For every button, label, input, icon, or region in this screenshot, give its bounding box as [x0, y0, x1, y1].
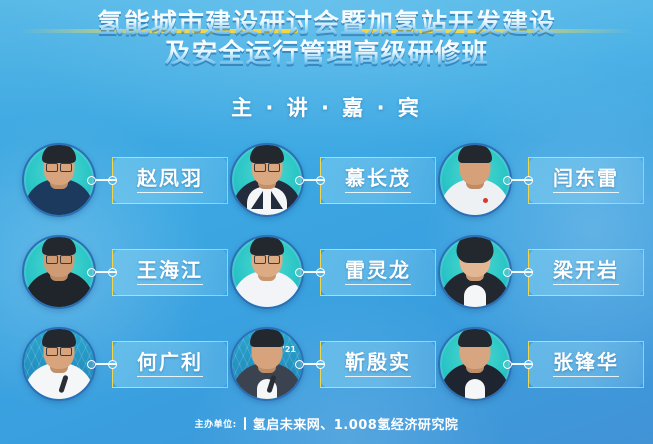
speaker-name-pill[interactable]: 雷灵龙 [320, 249, 436, 296]
connector-line [295, 173, 325, 187]
speaker-card[interactable]: '21 靳殷实 [230, 318, 436, 410]
speaker-card[interactable]: 雷灵龙 [230, 226, 436, 318]
speaker-card[interactable]: 王海江 [22, 226, 228, 318]
speaker-name: 梁开岩 [553, 259, 619, 285]
connector-line [503, 265, 533, 279]
footer-organizers: 氢启未来网、1.008氢经济研究院 [253, 414, 459, 433]
speaker-card[interactable]: 张锋华 [438, 318, 644, 410]
connector-line [295, 265, 325, 279]
poster-root: 氢能城市建设研讨会暨加氢站开发建设 及安全运行管理高级研修班 主 · 讲 · 嘉… [0, 0, 653, 444]
speaker-name-pill[interactable]: 慕长茂 [320, 157, 436, 204]
title-line-2-row: 及安全运行管理高级研修班 [0, 39, 653, 69]
speaker-name-pill[interactable]: 梁开岩 [528, 249, 644, 296]
portrait-avatar-icon [22, 235, 96, 309]
portrait-avatar-icon [438, 235, 512, 309]
speaker-card[interactable]: 何广利 [22, 318, 228, 410]
speaker-name: 王海江 [137, 259, 203, 285]
stage-badge-number: '21 [282, 345, 296, 354]
speaker-name: 靳殷实 [345, 351, 411, 377]
connector-line [503, 173, 533, 187]
connector-dot-icon [295, 268, 304, 277]
connector-dot-icon [87, 176, 96, 185]
connector-dot-icon [295, 360, 304, 369]
connector-dot-icon [295, 176, 304, 185]
connector-dot-icon [503, 360, 512, 369]
footer: 主办单位: 氢启未来网、1.008氢经济研究院 [0, 414, 653, 433]
speaker-name-pill[interactable]: 何广利 [112, 341, 228, 388]
portrait-avatar-icon [22, 327, 96, 401]
speaker-name-pill[interactable]: 王海江 [112, 249, 228, 296]
portrait-avatar-icon: '21 [230, 327, 304, 401]
connector-dot-icon [87, 360, 96, 369]
speaker-name-pill[interactable]: 张锋华 [528, 341, 644, 388]
footer-label: 主办单位: [195, 417, 237, 430]
portrait-avatar-icon [230, 235, 304, 309]
portrait-avatar-icon [22, 143, 96, 217]
connector-dot-icon [503, 268, 512, 277]
connector-dot-icon [503, 176, 512, 185]
footer-divider [244, 417, 246, 430]
speaker-name: 何广利 [137, 351, 203, 377]
speaker-name: 雷灵龙 [345, 259, 411, 285]
title-line-1: 氢能城市建设研讨会暨加氢站开发建设 [97, 9, 556, 39]
speaker-card[interactable]: 闫东雷 [438, 134, 644, 226]
connector-line [87, 265, 117, 279]
poster-title: 氢能城市建设研讨会暨加氢站开发建设 及安全运行管理高级研修班 [0, 9, 653, 69]
speaker-card[interactable]: 慕长茂 [230, 134, 436, 226]
speaker-name-pill[interactable]: 赵凤羽 [112, 157, 228, 204]
speaker-name-pill[interactable]: 靳殷实 [320, 341, 436, 388]
connector-line [87, 173, 117, 187]
title-line-2: 及安全运行管理高级研修班 [164, 39, 488, 69]
connector-line [295, 357, 325, 371]
connector-dot-icon [87, 268, 96, 277]
connector-line [503, 357, 533, 371]
speaker-name: 闫东雷 [553, 167, 619, 193]
speaker-name: 赵凤羽 [137, 167, 203, 193]
portrait-avatar-icon [230, 143, 304, 217]
speaker-name: 慕长茂 [345, 167, 411, 193]
portrait-avatar-icon [438, 327, 512, 401]
title-line-1-row: 氢能城市建设研讨会暨加氢站开发建设 [0, 9, 653, 39]
portrait-avatar-icon [438, 143, 512, 217]
speaker-grid: 赵凤羽 慕长茂 [22, 134, 631, 410]
speaker-card[interactable]: 梁开岩 [438, 226, 644, 318]
speaker-card[interactable]: 赵凤羽 [22, 134, 228, 226]
section-heading: 主 · 讲 · 嘉 · 宾 [0, 92, 653, 122]
speaker-name-pill[interactable]: 闫东雷 [528, 157, 644, 204]
connector-line [87, 357, 117, 371]
speaker-name: 张锋华 [553, 351, 619, 377]
